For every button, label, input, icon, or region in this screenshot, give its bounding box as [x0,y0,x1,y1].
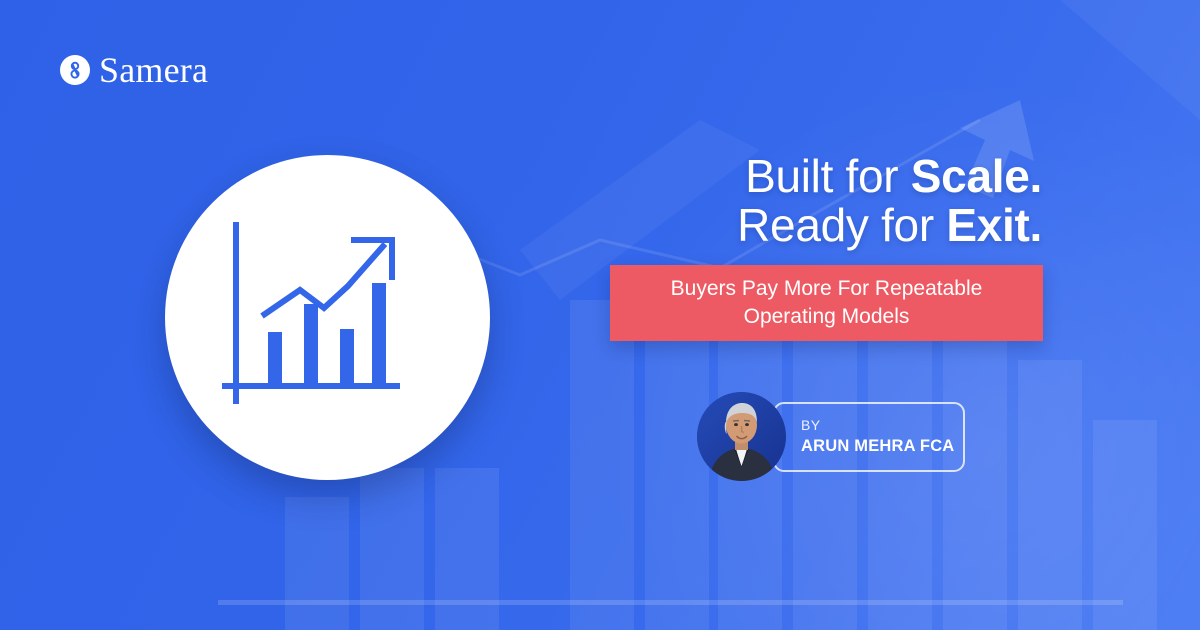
byline-label: BY [801,416,963,435]
headline: Built for Scale. Ready for Exit. [737,152,1042,250]
decorative-baseline-rule [218,600,1123,605]
headline-line-1-light: Built for [745,150,911,202]
chart-bar-2 [304,304,318,386]
brand-logo[interactable]: Samera [60,52,208,88]
topic-banner-line-2: Operating Models [744,305,910,328]
headline-line-1: Built for Scale. [737,152,1042,201]
headline-line-2-light: Ready for [737,199,946,251]
topic-banner-text: Buyers Pay More For Repeatable Operating… [655,275,999,330]
chart-bar-1 [268,332,282,386]
infinity-circle-icon [60,55,90,85]
social-card-canvas: Samera Built for Scale. [0,0,1200,630]
topic-banner-line-1: Buyers Pay More For Repeatable [671,277,983,300]
author-byline-box: BY ARUN MEHRA FCA [773,402,965,472]
topic-banner: Buyers Pay More For Repeatable Operating… [610,265,1043,341]
chart-glyph [220,218,435,418]
headline-line-2-bold: Exit. [946,199,1042,251]
chart-bar-4 [372,283,386,386]
brand-name: Samera [99,52,208,88]
headline-line-1-bold: Scale. [911,150,1042,202]
chart-bar-3 [340,329,354,386]
author-name: ARUN MEHRA FCA [801,435,963,457]
growth-bar-chart-icon [165,155,490,480]
author-byline: BY ARUN MEHRA FCA [697,392,965,481]
headline-line-2: Ready for Exit. [737,201,1042,250]
author-portrait-avatar [697,392,786,481]
